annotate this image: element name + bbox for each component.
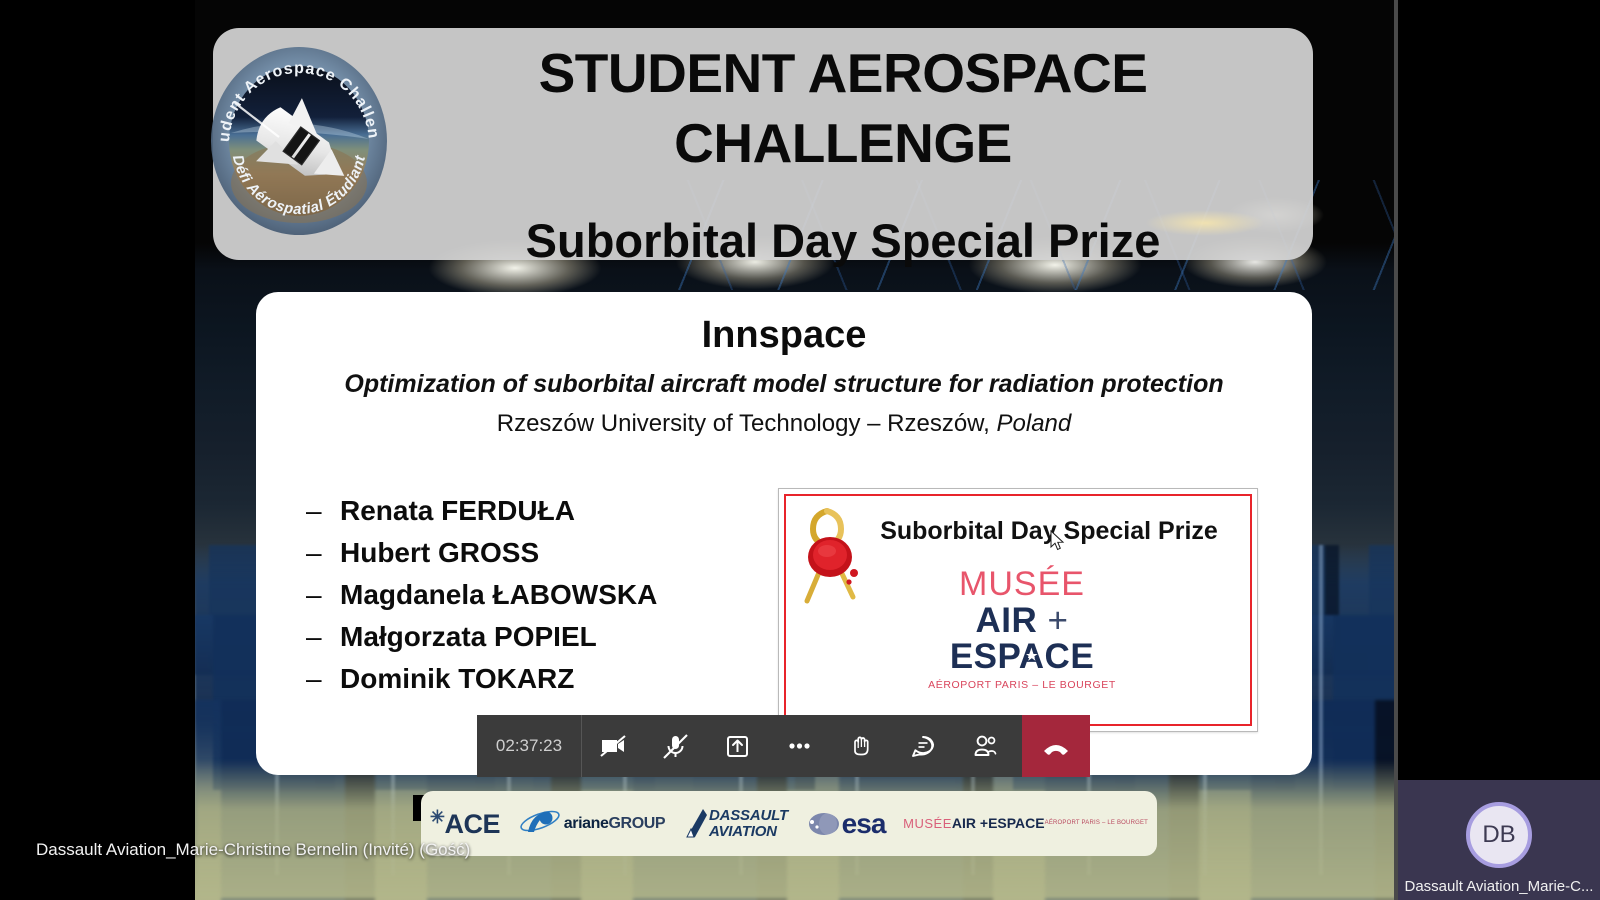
banner-title: STUDENT AEROSPACE CHALLENGE xyxy=(393,38,1293,179)
sponsors-bar: ✳ACE arianeGROUP DASSAULT xyxy=(421,791,1157,856)
prize-title: Suborbital Day Special Prize xyxy=(859,517,1239,546)
participants-rail xyxy=(1398,0,1600,900)
member-name: Magdanela ŁABOWSKA xyxy=(340,579,657,611)
bullet-dash: – xyxy=(306,663,340,695)
list-item: – Małgorzata POPIEL xyxy=(306,616,776,658)
dassault-text: DASSAULT AVIATION xyxy=(709,808,788,840)
bullet-dash: – xyxy=(306,495,340,527)
prize-award-box: Suborbital Day Special Prize MUSÉE AIR +… xyxy=(778,488,1258,732)
bullet-dash: – xyxy=(306,621,340,653)
university-line: Rzeszów University of Technology – Rzesz… xyxy=(256,410,1312,438)
list-item: – Magdanela ŁABOWSKA xyxy=(306,574,776,616)
musee-air-espace-logo: MUSÉE AIR + ESPACE ★ AÉROPORT PARIS – LE… xyxy=(907,567,1137,691)
presenter-name-label: Dassault Aviation_Marie-Christine Bernel… xyxy=(36,840,470,860)
arianegroup-logo: arianeGROUP xyxy=(518,791,665,856)
musee-air-espace-logo-sponsor: MUSÉE AIR + ESPACE AÉROPORT PARIS – LE B… xyxy=(903,791,1148,856)
presentation-slide: Innspace Optimization of suborbital airc… xyxy=(256,292,1312,775)
share-screen-icon[interactable] xyxy=(706,715,768,777)
ace-word: ACE xyxy=(444,809,500,839)
member-name: Małgorzata POPIEL xyxy=(340,621,597,653)
teams-meeting-window: STUDENT AEROSPACE CHALLENGE Suborbital D… xyxy=(0,0,1600,900)
more-options-icon[interactable] xyxy=(768,715,830,777)
participant-name: Dassault Aviation_Marie-C... xyxy=(1398,878,1600,895)
espace-word: ESPACE xyxy=(988,816,1045,830)
aviation-word: AVIATION xyxy=(709,824,788,840)
chat-icon[interactable] xyxy=(892,715,954,777)
hangup-icon[interactable] xyxy=(1022,715,1090,777)
musee-footer: AÉROPORT PARIS – LE BOURGET xyxy=(1045,820,1148,826)
mic-off-icon[interactable] xyxy=(644,715,706,777)
member-name: Dominik TOKARZ xyxy=(340,663,574,695)
ace-text: ✳ACE xyxy=(430,807,500,840)
dassault-aviation-logo: DASSAULT AVIATION xyxy=(683,791,788,856)
ariane-mark-icon xyxy=(518,808,564,840)
esa-logo: esa xyxy=(806,791,886,856)
air-text: AIR xyxy=(976,601,1038,640)
plus-sign: + xyxy=(1048,601,1069,640)
star-burst-icon: ✳ xyxy=(430,807,445,827)
air-word: AIR + xyxy=(952,816,988,830)
group-word: GROUP xyxy=(609,815,666,832)
list-item: – Dominik TOKARZ xyxy=(306,658,776,700)
shared-screen-stage[interactable]: STUDENT AEROSPACE CHALLENGE Suborbital D… xyxy=(0,0,1400,900)
ariane-text: arianeGROUP xyxy=(564,816,665,832)
air-word: AIR + xyxy=(907,603,1137,640)
ariane-word: ariane xyxy=(564,815,609,832)
raise-hand-icon[interactable] xyxy=(830,715,892,777)
list-item: – Hubert GROSS xyxy=(306,532,776,574)
team-members-list: – Renata FERDUŁA – Hubert GROSS – Magdan… xyxy=(306,490,776,700)
university-country: Poland xyxy=(997,410,1072,437)
member-name: Hubert GROSS xyxy=(340,537,539,569)
musee-footer: AÉROPORT PARIS – LE BOURGET xyxy=(907,679,1137,691)
list-item: – Renata FERDUŁA xyxy=(306,490,776,532)
camera-off-icon[interactable] xyxy=(582,715,644,777)
dassault-mark-icon xyxy=(683,807,709,841)
avatar: DB xyxy=(1466,802,1532,868)
musee-word: MUSÉE xyxy=(903,817,952,830)
team-name: Innspace xyxy=(256,314,1312,357)
esa-text: esa xyxy=(842,808,886,840)
member-name: Renata FERDUŁA xyxy=(340,495,575,527)
banner-subtitle: Suborbital Day Special Prize xyxy=(393,213,1293,268)
espace-text: ESPACE xyxy=(950,637,1094,676)
mouse-cursor-icon xyxy=(1050,530,1066,552)
participant-video-tile[interactable]: DB Dassault Aviation_Marie-C... xyxy=(1398,780,1600,900)
bullet-dash: – xyxy=(306,579,340,611)
university-name: Rzeszów University of Technology – Rzesz… xyxy=(497,410,997,437)
bullet-dash: – xyxy=(306,537,340,569)
esa-mark-icon xyxy=(806,811,842,837)
call-controls-toolbar: 02:37:23 xyxy=(477,715,1090,777)
banner-title-line1: STUDENT AEROSPACE xyxy=(393,38,1293,108)
dassault-word: DASSAULT xyxy=(709,808,788,824)
musee-word: MUSÉE xyxy=(907,567,1137,603)
participants-icon[interactable] xyxy=(954,715,1016,777)
banner-title-line2: CHALLENGE xyxy=(393,108,1293,178)
call-timer: 02:37:23 xyxy=(477,736,581,756)
project-title: Optimization of suborbital aircraft mode… xyxy=(256,370,1312,399)
star-icon: ★ xyxy=(1026,649,1038,663)
spaceplane-emblem-icon: Student Aerospace Challenge Défi Aérospa… xyxy=(205,33,393,245)
espace-word: ESPACE ★ xyxy=(907,639,1137,676)
